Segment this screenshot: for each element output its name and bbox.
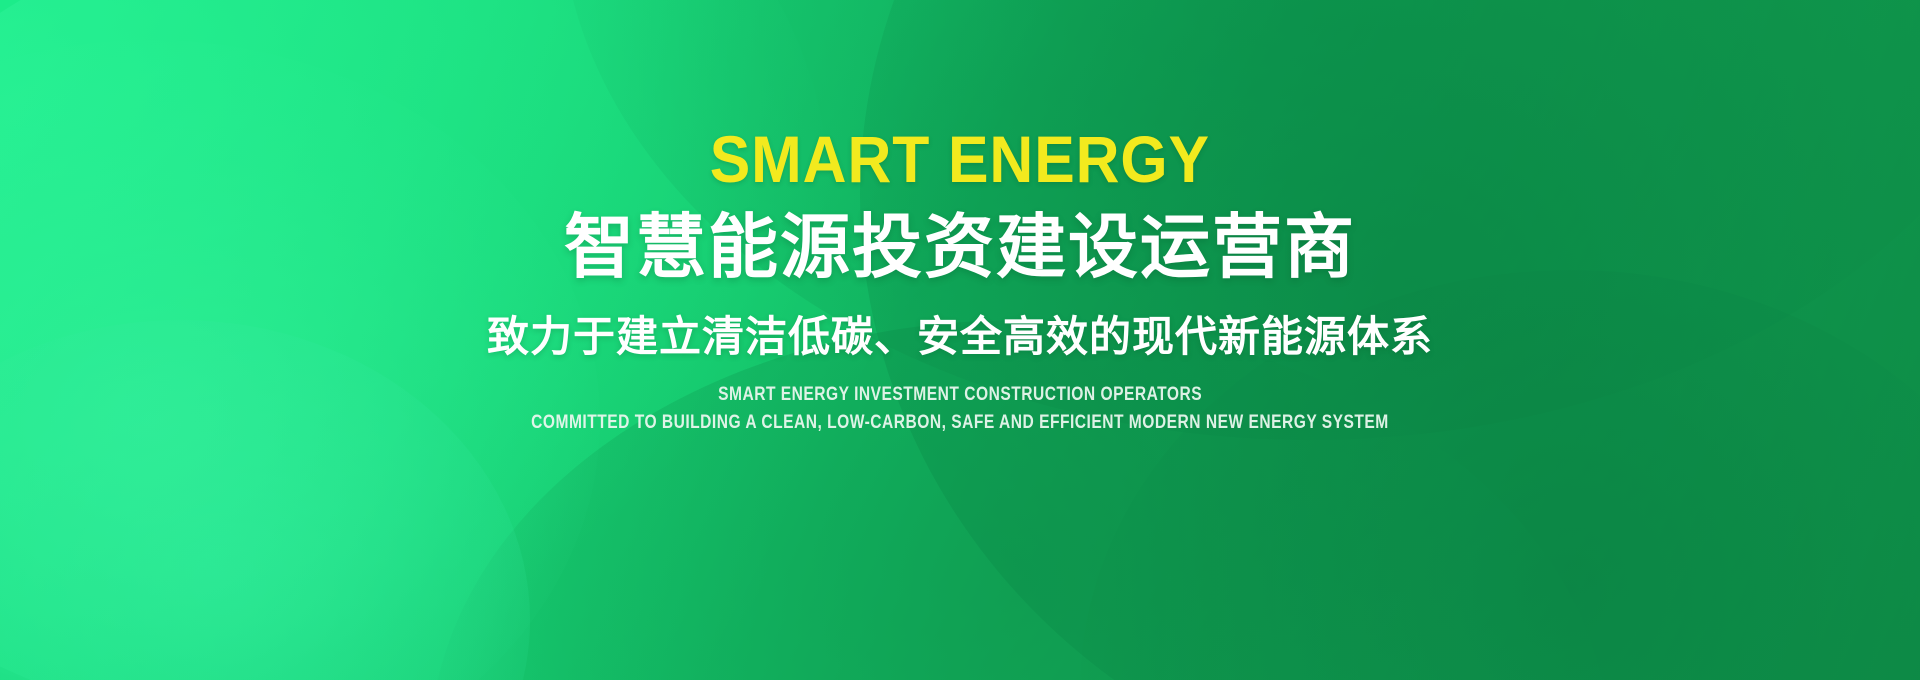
hero-banner: SMART ENERGY 智慧能源投资建设运营商 致力于建立清洁低碳、安全高效的…: [0, 0, 1920, 680]
banner-content: SMART ENERGY 智慧能源投资建设运营商 致力于建立清洁低碳、安全高效的…: [0, 0, 1920, 680]
banner-subtitle-chinese: 致力于建立清洁低碳、安全高效的现代新能源体系: [487, 316, 1433, 358]
banner-tagline-line-2: COMMITTED TO BUILDING A CLEAN, LOW-CARBO…: [531, 412, 1389, 434]
banner-headline-chinese: 智慧能源投资建设运营商: [564, 212, 1356, 282]
banner-tagline-group: SMART ENERGY INVESTMENT CONSTRUCTION OPE…: [437, 384, 1483, 434]
banner-tagline-line-1: SMART ENERGY INVESTMENT CONSTRUCTION OPE…: [718, 384, 1202, 406]
banner-headline-english: SMART ENERGY: [710, 126, 1210, 192]
